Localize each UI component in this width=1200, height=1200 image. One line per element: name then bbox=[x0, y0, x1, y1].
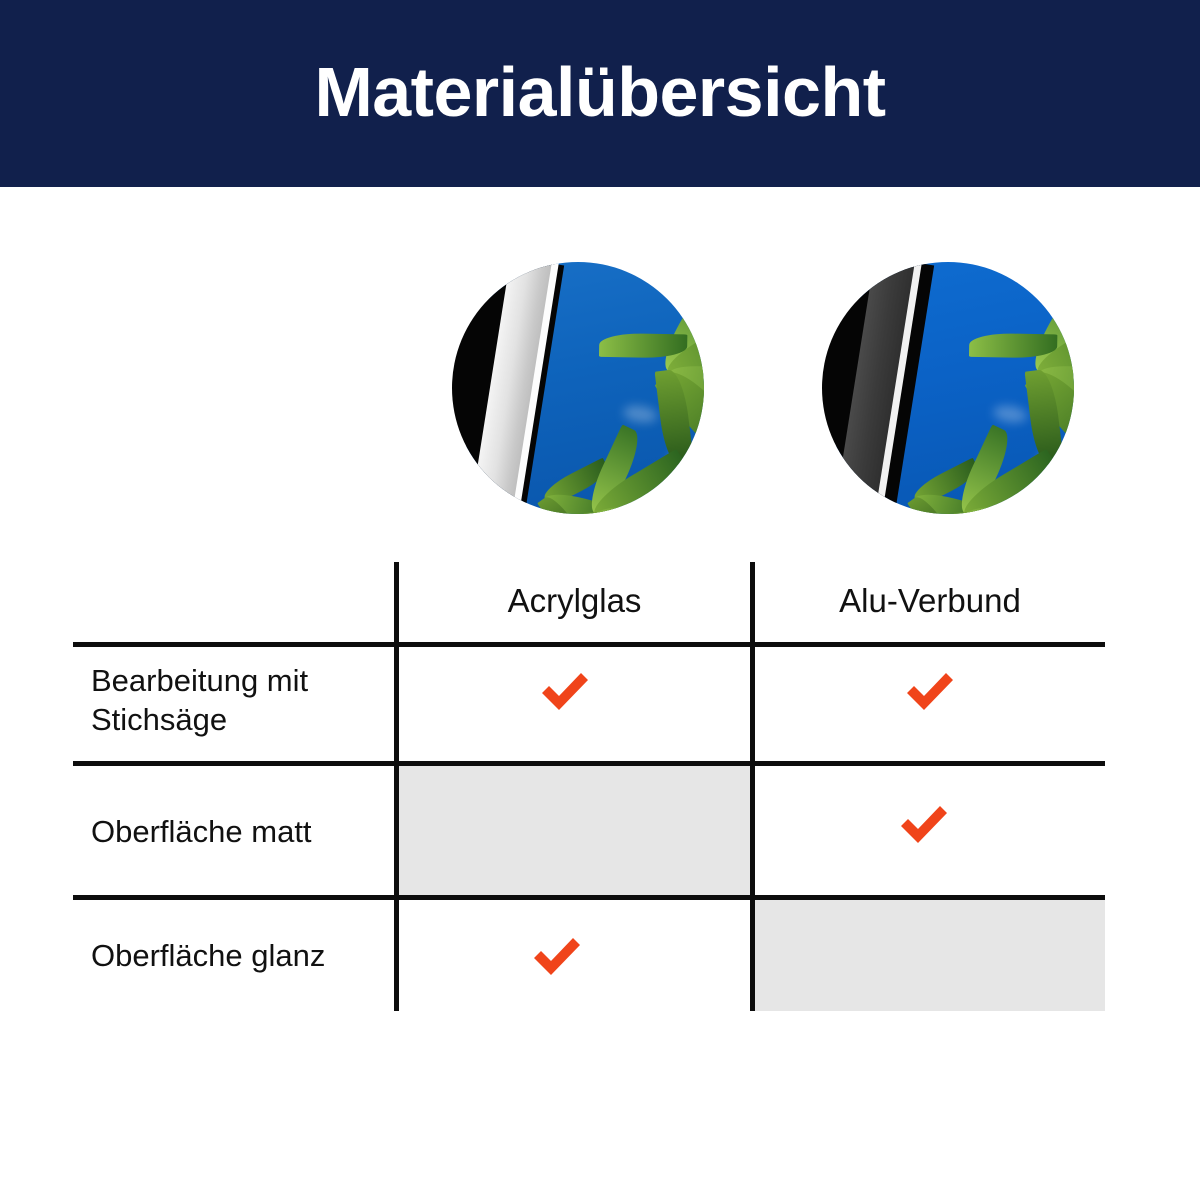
material-overview-page: Materialübersicht bbox=[0, 0, 1200, 1200]
alu-verbund-thumbnail[interactable] bbox=[822, 262, 1074, 514]
check-icon bbox=[901, 663, 959, 721]
table-column-header-acrylglas: Acrylglas bbox=[399, 568, 750, 634]
acrylglas-panel-image bbox=[452, 262, 704, 514]
table-cell-shaded bbox=[394, 764, 750, 896]
row-label-line: Bearbeitung mit bbox=[91, 661, 391, 700]
table-grid: Acrylglas Alu-Verbund Bearbeitung mit St… bbox=[73, 556, 1105, 1011]
check-icon bbox=[536, 663, 594, 721]
cloud-icon bbox=[701, 497, 704, 514]
row-label-line: Stichsäge bbox=[91, 700, 391, 739]
table-cell-shaded bbox=[750, 899, 1105, 1011]
table-row-label-oberflaeche-glanz: Oberfläche glanz bbox=[91, 936, 391, 975]
table-rule-horizontal bbox=[73, 895, 1105, 900]
cloud-icon bbox=[1071, 497, 1074, 514]
material-thumbnails bbox=[0, 262, 1200, 514]
table-rule-horizontal bbox=[73, 642, 1105, 647]
table-row-label-bearbeitung: Bearbeitung mit Stichsäge bbox=[91, 661, 391, 739]
check-icon bbox=[895, 796, 953, 854]
material-comparison-table: Acrylglas Alu-Verbund Bearbeitung mit St… bbox=[73, 556, 1105, 1011]
cloud-icon bbox=[992, 404, 1028, 425]
table-column-header-alu-verbund: Alu-Verbund bbox=[755, 568, 1105, 634]
table-rule-horizontal bbox=[73, 761, 1105, 766]
check-icon bbox=[528, 928, 586, 986]
cloud-icon bbox=[622, 404, 658, 425]
acrylglas-thumbnail[interactable] bbox=[452, 262, 704, 514]
table-row-label-oberflaeche-matt: Oberfläche matt bbox=[91, 812, 391, 851]
alu-verbund-panel-image bbox=[822, 262, 1074, 514]
header-banner: Materialübersicht bbox=[0, 0, 1200, 187]
page-title: Materialübersicht bbox=[314, 57, 885, 127]
